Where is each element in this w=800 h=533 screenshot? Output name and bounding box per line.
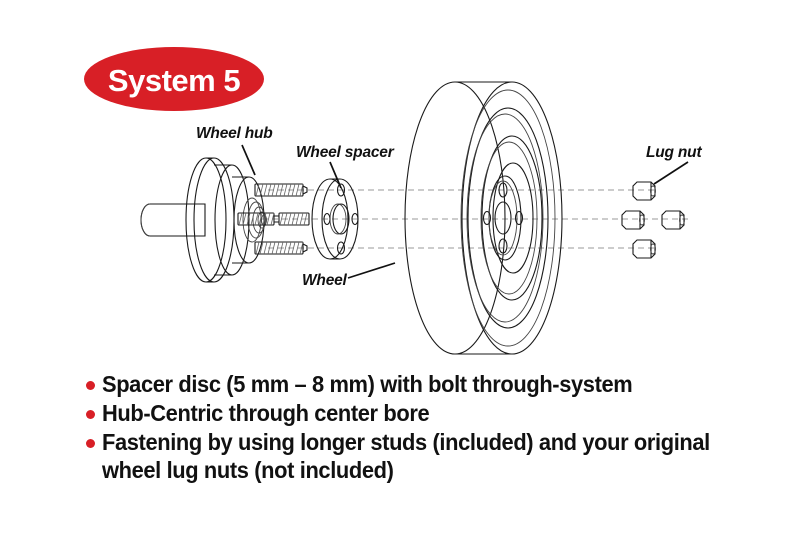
diagram-page: System 5 Wheel hub Wheel spacer Lug nut … [0, 0, 800, 533]
list-item-label: Hub-Centric through center bore [102, 399, 429, 427]
label-lug-nut: Lug nut [646, 144, 702, 161]
wheel-hub-flange [186, 158, 267, 282]
leader-lug-nut [654, 162, 688, 184]
bullet-dot-icon [86, 410, 95, 419]
lug-nut-middle-right [662, 211, 685, 229]
list-item: Spacer disc (5 mm – 8 mm) with bolt thro… [86, 370, 786, 398]
lug-nuts [622, 182, 685, 258]
bullet-dot-icon [86, 381, 95, 390]
alignment-guides [262, 190, 690, 248]
leader-wheel [348, 263, 395, 278]
label-wheel-hub: Wheel hub [196, 125, 273, 142]
lug-nut-bottom [633, 240, 656, 258]
label-wheel: Wheel [302, 272, 348, 289]
axle-shaft [141, 204, 205, 236]
list-item-label: Spacer disc (5 mm – 8 mm) with bolt thro… [102, 370, 632, 398]
lug-nut-middle-left [622, 211, 645, 229]
callout-labels: Wheel hub Wheel spacer Lug nut Wheel [196, 125, 702, 289]
list-item-label: Fastening by using longer studs (include… [102, 428, 710, 484]
list-item: Fastening by using longer studs (include… [86, 428, 786, 484]
list-item: Hub-Centric through center bore [86, 399, 786, 427]
hub-studs [238, 184, 309, 254]
label-wheel-spacer: Wheel spacer [296, 144, 395, 161]
lug-nut-top [633, 182, 656, 200]
bullet-dot-icon [86, 439, 95, 448]
system-badge-label: System 5 [108, 63, 240, 98]
leader-wheel-hub [242, 145, 255, 175]
system-badge: System 5 [84, 47, 264, 111]
feature-list: Spacer disc (5 mm – 8 mm) with bolt thro… [86, 370, 786, 485]
wheel-tire-assembly [405, 82, 562, 354]
